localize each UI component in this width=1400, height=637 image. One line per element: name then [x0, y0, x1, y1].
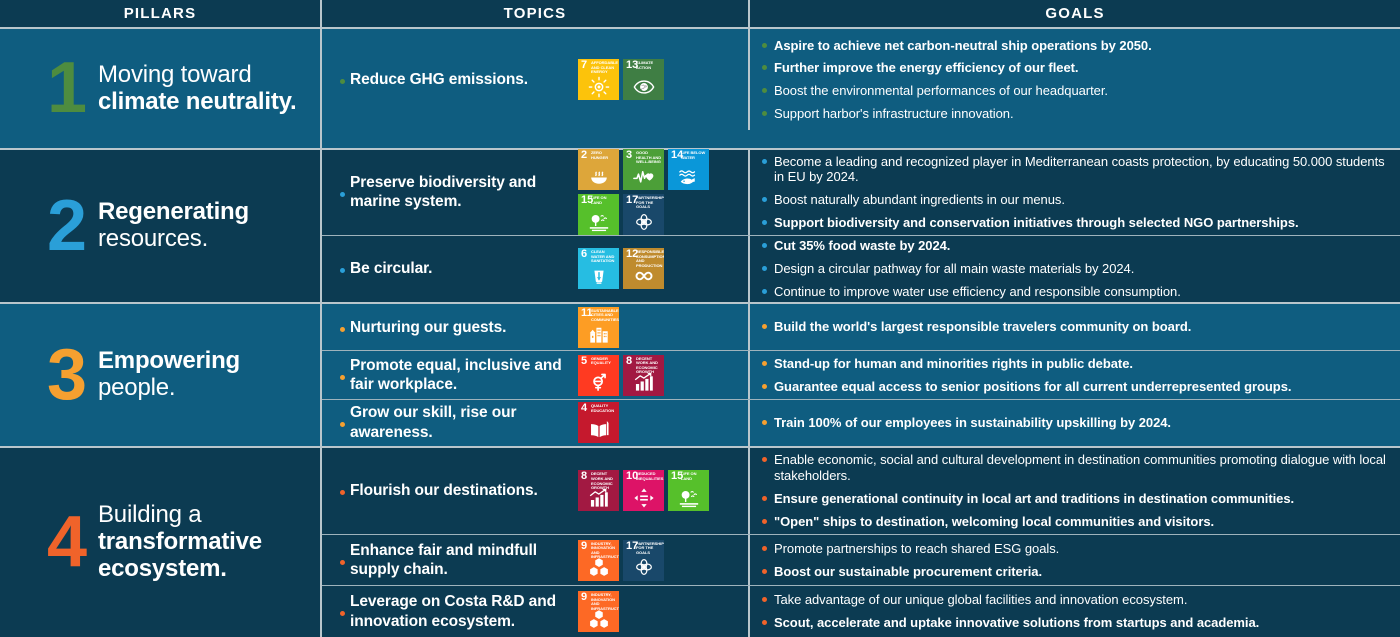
sdg-title: QUALITY EDUCATION: [591, 404, 617, 413]
sdg-tile-13[interactable]: 13CLIMATE ACTION: [623, 59, 664, 100]
goals-cell: Build the world's largest responsible tr…: [750, 304, 1400, 350]
heartbeat-icon: [623, 164, 664, 189]
table-header: PILLARS TOPICS GOALS: [0, 0, 1400, 29]
pillar-cell[interactable]: 2Regeneratingresources.: [32, 150, 322, 302]
topic-cell[interactable]: Preserve biodiversity and marine system.…: [322, 150, 750, 235]
topic-row: Be circular.6CLEAN WATER AND SANITATION1…: [322, 236, 1400, 302]
sdg-title: AFFORDABLE AND CLEAN ENERGY: [591, 61, 617, 75]
topic-label: Nurturing our guests.: [350, 318, 578, 337]
pillar-title-line2: climate neutrality.: [98, 89, 297, 116]
pillar-title: Empoweringpeople.: [98, 348, 240, 402]
goal-item: Boost our sustainable procurement criter…: [762, 560, 1386, 583]
pillar-cell[interactable]: 1Moving towardclimate neutrality.: [32, 29, 322, 148]
sdg-tile-4[interactable]: 4QUALITY EDUCATION: [578, 402, 619, 443]
sdg-number: 6: [581, 249, 587, 260]
cubes-industry-icon: [578, 606, 619, 631]
goal-text: Build the world's largest responsible tr…: [774, 319, 1386, 335]
sdg-tile-2[interactable]: 2ZERO HUNGER: [578, 149, 619, 190]
sdg-number: 9: [581, 541, 587, 552]
goal-item: Aspire to achieve net carbon-neutral shi…: [762, 34, 1386, 57]
goal-bullet-icon: [762, 106, 774, 116]
topics-goals-stack: Nurturing our guests.11SUSTAINABLE CITIE…: [322, 304, 1400, 446]
topic-row: Promote equal, inclusive and fair workpl…: [322, 351, 1400, 399]
sdg-tile-17[interactable]: 17PARTNERSHIPS FOR THE GOALS: [623, 540, 664, 581]
sustainability-framework-table: PILLARS TOPICS GOALS 1Moving towardclima…: [0, 0, 1400, 637]
goal-bullet-icon: [762, 356, 774, 366]
topics-goals-stack: Flourish our destinations.8DECENT WORK A…: [322, 448, 1400, 637]
topic-row: Enhance fair and mindfull supply chain.9…: [322, 535, 1400, 587]
row-gutter: [0, 448, 32, 637]
sdg-tile-12[interactable]: 12RESPONSIBLE CONSUMPTION AND PRODUCTION: [623, 248, 664, 289]
sdg-tile-8[interactable]: 8DECENT WORK AND ECONOMIC GROWTH: [623, 355, 664, 396]
partnership-rings-icon: [623, 209, 664, 234]
pillar-row-3: 3Empoweringpeople.Nurturing our guests.1…: [0, 304, 1400, 448]
topic-label: Reduce GHG emissions.: [350, 70, 578, 89]
topic-cell[interactable]: Enhance fair and mindfull supply chain.9…: [322, 535, 750, 586]
sdg-icon-group: 6CLEAN WATER AND SANITATION12RESPONSIBLE…: [578, 248, 742, 289]
infinity-icon: [623, 263, 664, 288]
goals-cell: Aspire to achieve net carbon-neutral shi…: [750, 29, 1400, 130]
goal-bullet-icon: [762, 615, 774, 625]
goal-bullet-icon: [762, 192, 774, 202]
goal-bullet-icon: [762, 261, 774, 271]
sdg-tile-15[interactable]: 15LIFE ON LAND: [668, 470, 709, 511]
pillar-number: 3: [36, 345, 98, 405]
topic-label: Grow our skill, rise our awareness.: [350, 403, 578, 442]
goal-bullet-icon: [762, 154, 774, 164]
goal-text: Support harbor's infrastructure innovati…: [774, 106, 1386, 122]
sdg-number: 7: [581, 60, 587, 71]
goal-bullet-icon: [762, 592, 774, 602]
water-glass-arrow-icon: [578, 263, 619, 288]
pillar-title-line1: Regenerating: [98, 199, 249, 226]
pillar-title: Moving towardclimate neutrality.: [98, 62, 297, 116]
goal-item: Cut 35% food waste by 2024.: [762, 235, 1386, 258]
goal-text: Enable economic, social and cultural dev…: [774, 452, 1386, 484]
sdg-title: LIFE ON LAND: [681, 472, 707, 481]
sdg-title: CLIMATE ACTION: [636, 61, 662, 70]
topic-row: Reduce GHG emissions.7AFFORDABLE AND CLE…: [322, 29, 1400, 130]
sdg-title: PARTNERSHIPS FOR THE GOALS: [636, 542, 662, 556]
sdg-tile-17[interactable]: 17PARTNERSHIPS FOR THE GOALS: [623, 194, 664, 235]
topic-bullet-icon: [340, 323, 350, 332]
goal-bullet-icon: [762, 38, 774, 48]
topic-label: Be circular.: [350, 259, 578, 278]
goal-bullet-icon: [762, 452, 774, 462]
goal-text: Train 100% of our employees in sustainab…: [774, 415, 1386, 431]
growth-chart-icon: [578, 485, 619, 510]
sdg-title: LIFE BELOW WATER: [681, 151, 707, 160]
pillar-row-2: 2Regeneratingresources.Preserve biodiver…: [0, 150, 1400, 304]
pillar-title-line1: Building a: [98, 502, 310, 529]
topics-goals-stack: Reduce GHG emissions.7AFFORDABLE AND CLE…: [322, 29, 1400, 148]
goals-cell: Enable economic, social and cultural dev…: [750, 448, 1400, 534]
pillar-number: 2: [36, 196, 98, 256]
goal-item: Support harbor's infrastructure innovati…: [762, 103, 1386, 126]
goal-item: Support biodiversity and conservation in…: [762, 212, 1386, 235]
topic-cell[interactable]: Be circular.6CLEAN WATER AND SANITATION1…: [322, 236, 750, 302]
sdg-title: GENDER EQUALITY: [591, 357, 617, 366]
goals-cell: Take advantage of our unique global faci…: [750, 586, 1400, 637]
tree-birds-icon: [668, 485, 709, 510]
cubes-industry-icon: [578, 555, 619, 580]
topic-bullet-icon: [340, 75, 350, 84]
pillar-title-line2: people.: [98, 375, 240, 402]
goal-bullet-icon: [762, 564, 774, 574]
goals-cell: Train 100% of our employees in sustainab…: [750, 400, 1400, 446]
goal-item: Further improve the energy efficiency of…: [762, 57, 1386, 80]
goal-item: Scout, accelerate and uptake innovative …: [762, 612, 1386, 635]
tree-birds-icon: [578, 209, 619, 234]
goal-bullet-icon: [762, 319, 774, 329]
sdg-icon-group: 2ZERO HUNGER3GOOD HEALTH AND WELL-BEING1…: [578, 149, 742, 235]
growth-chart-icon: [623, 370, 664, 395]
topic-cell[interactable]: Nurturing our guests.11SUSTAINABLE CITIE…: [322, 304, 750, 350]
sdg-number: 4: [581, 403, 587, 414]
sdg-title: REDUCED INEQUALITIES: [636, 472, 662, 481]
goal-text: Stand-up for human and minorities rights…: [774, 356, 1386, 372]
sdg-title: SUSTAINABLE CITIES AND COMMUNITIES: [591, 309, 617, 323]
goal-text: Aspire to achieve net carbon-neutral shi…: [774, 38, 1386, 54]
pillar-number: 1: [36, 58, 98, 118]
topic-label: Promote equal, inclusive and fair workpl…: [350, 356, 578, 395]
topic-cell[interactable]: Promote equal, inclusive and fair workpl…: [322, 351, 750, 398]
goal-text: Guarantee equal access to senior positio…: [774, 379, 1386, 395]
sdg-tile-9[interactable]: 9INDUSTRY, INNOVATION AND INFRASTRUCTURE: [578, 540, 619, 581]
sun-power-icon: [578, 74, 619, 99]
goal-text: Continue to improve water use efficiency…: [774, 284, 1386, 300]
pillar-title-line1: Moving toward: [98, 62, 297, 89]
sdg-number: 3: [626, 150, 632, 161]
partnership-rings-icon: [623, 555, 664, 580]
topic-row: Flourish our destinations.8DECENT WORK A…: [322, 448, 1400, 535]
goal-item: Ensure generational continuity in local …: [762, 487, 1386, 510]
pillar-number: 4: [36, 512, 98, 572]
goal-bullet-icon: [762, 284, 774, 294]
goal-text: Boost naturally abundant ingredients in …: [774, 192, 1386, 208]
goal-bullet-icon: [762, 541, 774, 551]
sdg-icon-group: 11SUSTAINABLE CITIES AND COMMUNITIES: [578, 307, 742, 348]
sdg-tile-10[interactable]: 10REDUCED INEQUALITIES: [623, 470, 664, 511]
topic-label: Enhance fair and mindfull supply chain.: [350, 541, 578, 580]
topic-cell[interactable]: Flourish our destinations.8DECENT WORK A…: [322, 448, 750, 534]
topic-label: Preserve biodiversity and marine system.: [350, 173, 578, 212]
goal-item: Stand-up for human and minorities rights…: [762, 352, 1386, 375]
topic-label: Flourish our destinations.: [350, 481, 578, 500]
sdg-title: LIFE ON LAND: [591, 196, 617, 205]
goal-bullet-icon: [762, 415, 774, 425]
sdg-number: 2: [581, 150, 587, 161]
book-pencil-icon: [578, 417, 619, 442]
topic-bullet-icon: [340, 264, 350, 273]
goal-text: Promote partnerships to reach shared ESG…: [774, 541, 1386, 557]
pillar-title: Building atransformative ecosystem.: [98, 502, 310, 583]
goal-item: Become a leading and recognized player i…: [762, 150, 1386, 189]
row-gutter: [0, 150, 32, 302]
goal-item: Boost the environmental performances of …: [762, 80, 1386, 103]
goal-text: Support biodiversity and conservation in…: [774, 215, 1386, 231]
sdg-tile-5[interactable]: 5GENDER EQUALITY: [578, 355, 619, 396]
goal-text: Take advantage of our unique global faci…: [774, 592, 1386, 608]
topic-cell[interactable]: Reduce GHG emissions.7AFFORDABLE AND CLE…: [322, 29, 750, 130]
goal-item: Build the world's largest responsible tr…: [762, 316, 1386, 339]
topic-bullet-icon: [340, 188, 350, 197]
topic-bullet-icon: [340, 418, 350, 427]
goal-text: Design a circular pathway for all main w…: [774, 261, 1386, 277]
gender-equality-icon: [578, 370, 619, 395]
sdg-tile-7[interactable]: 7AFFORDABLE AND CLEAN ENERGY: [578, 59, 619, 100]
goals-cell: Promote partnerships to reach shared ESG…: [750, 535, 1400, 586]
goal-bullet-icon: [762, 83, 774, 93]
topic-bullet-icon: [340, 371, 350, 380]
topic-row: Leverage on Costa R&D and innovation eco…: [322, 586, 1400, 637]
goal-bullet-icon: [762, 379, 774, 389]
goal-item: Take advantage of our unique global faci…: [762, 589, 1386, 612]
sdg-number: 8: [581, 471, 587, 482]
sdg-icon-group: 7AFFORDABLE AND CLEAN ENERGY13CLIMATE AC…: [578, 59, 742, 100]
topic-bullet-icon: [340, 607, 350, 616]
column-header-topics: TOPICS: [322, 0, 750, 27]
topic-bullet-icon: [340, 556, 350, 565]
topic-bullet-icon: [340, 486, 350, 495]
goal-text: Boost the environmental performances of …: [774, 83, 1386, 99]
table-body: 1Moving towardclimate neutrality.Reduce …: [0, 29, 1400, 637]
city-buildings-icon: [578, 322, 619, 347]
topic-row: Preserve biodiversity and marine system.…: [322, 150, 1400, 236]
sdg-tile-8[interactable]: 8DECENT WORK AND ECONOMIC GROWTH: [578, 470, 619, 511]
sdg-tile-15[interactable]: 15LIFE ON LAND: [578, 194, 619, 235]
goal-text: Scout, accelerate and uptake innovative …: [774, 615, 1386, 631]
topic-label: Leverage on Costa R&D and innovation eco…: [350, 592, 578, 631]
goal-text: Boost our sustainable procurement criter…: [774, 564, 1386, 580]
goal-item: Guarantee equal access to senior positio…: [762, 375, 1386, 398]
eye-earth-icon: [623, 74, 664, 99]
sdg-tile-3[interactable]: 3GOOD HEALTH AND WELL-BEING: [623, 149, 664, 190]
goal-bullet-icon: [762, 215, 774, 225]
goal-text: Cut 35% food waste by 2024.: [774, 238, 1386, 254]
row-gutter: [0, 29, 32, 148]
goal-item: Promote partnerships to reach shared ESG…: [762, 537, 1386, 560]
pillar-title: Regeneratingresources.: [98, 199, 249, 253]
goal-item: Train 100% of our employees in sustainab…: [762, 411, 1386, 434]
bowl-steam-icon: [578, 164, 619, 189]
sdg-tile-14[interactable]: 14LIFE BELOW WATER: [668, 149, 709, 190]
goal-item: Design a circular pathway for all main w…: [762, 257, 1386, 280]
sdg-title: PARTNERSHIPS FOR THE GOALS: [636, 196, 662, 210]
goal-bullet-icon: [762, 491, 774, 501]
goal-item: Boost naturally abundant ingredients in …: [762, 189, 1386, 212]
goal-bullet-icon: [762, 514, 774, 524]
sdg-tile-9[interactable]: 9INDUSTRY, INNOVATION AND INFRASTRUCTURE: [578, 591, 619, 632]
column-header-goals: GOALS: [750, 0, 1400, 27]
topic-cell[interactable]: Leverage on Costa R&D and innovation eco…: [322, 586, 750, 637]
sdg-number: 5: [581, 356, 587, 367]
goal-item: Enable economic, social and cultural dev…: [762, 449, 1386, 488]
row-gutter: [0, 304, 32, 446]
sdg-number: 8: [626, 356, 632, 367]
goal-text: "Open" ships to destination, welcoming l…: [774, 514, 1386, 530]
goal-text: Ensure generational continuity in local …: [774, 491, 1386, 507]
goals-cell: Become a leading and recognized player i…: [750, 150, 1400, 235]
pillar-row-1: 1Moving towardclimate neutrality.Reduce …: [0, 29, 1400, 150]
sdg-title: GOOD HEALTH AND WELL-BEING: [636, 151, 662, 165]
goals-cell: Cut 35% food waste by 2024.Design a circ…: [750, 236, 1400, 302]
goal-item: "Open" ships to destination, welcoming l…: [762, 510, 1386, 533]
pillar-cell[interactable]: 3Empoweringpeople.: [32, 304, 322, 446]
sdg-tile-6[interactable]: 6CLEAN WATER AND SANITATION: [578, 248, 619, 289]
sdg-title: CLEAN WATER AND SANITATION: [591, 250, 617, 264]
pillar-title-line2: transformative ecosystem.: [98, 529, 310, 583]
sdg-title: ZERO HUNGER: [591, 151, 617, 160]
pillar-title-line1: Empowering: [98, 348, 240, 375]
equal-arrows-icon: [623, 485, 664, 510]
topic-row: Nurturing our guests.11SUSTAINABLE CITIE…: [322, 304, 1400, 351]
fish-waves-icon: [668, 164, 709, 189]
goal-text: Become a leading and recognized player i…: [774, 154, 1386, 186]
sdg-icon-group: 9INDUSTRY, INNOVATION AND INFRASTRUCTURE…: [578, 540, 742, 581]
sdg-tile-11[interactable]: 11SUSTAINABLE CITIES AND COMMUNITIES: [578, 307, 619, 348]
pillar-row-4: 4Building atransformative ecosystem.Flou…: [0, 448, 1400, 637]
column-header-pillars: PILLARS: [0, 0, 322, 27]
goal-bullet-icon: [762, 238, 774, 248]
topic-row: Grow our skill, rise our awareness.4QUAL…: [322, 400, 1400, 446]
sdg-icon-group: 4QUALITY EDUCATION: [578, 402, 742, 443]
goals-cell: Stand-up for human and minorities rights…: [750, 351, 1400, 398]
topic-cell[interactable]: Grow our skill, rise our awareness.4QUAL…: [322, 400, 750, 446]
goal-text: Further improve the energy efficiency of…: [774, 60, 1386, 76]
sdg-icon-group: 5GENDER EQUALITY8DECENT WORK AND ECONOMI…: [578, 355, 742, 396]
goal-bullet-icon: [762, 60, 774, 70]
sdg-number: 9: [581, 592, 587, 603]
sdg-icon-group: 8DECENT WORK AND ECONOMIC GROWTH10REDUCE…: [578, 470, 742, 511]
topics-goals-stack: Preserve biodiversity and marine system.…: [322, 150, 1400, 302]
sdg-icon-group: 9INDUSTRY, INNOVATION AND INFRASTRUCTURE: [578, 591, 742, 632]
pillar-cell[interactable]: 4Building atransformative ecosystem.: [32, 448, 322, 637]
pillar-title-line2: resources.: [98, 226, 249, 253]
goal-item: Continue to improve water use efficiency…: [762, 280, 1386, 303]
